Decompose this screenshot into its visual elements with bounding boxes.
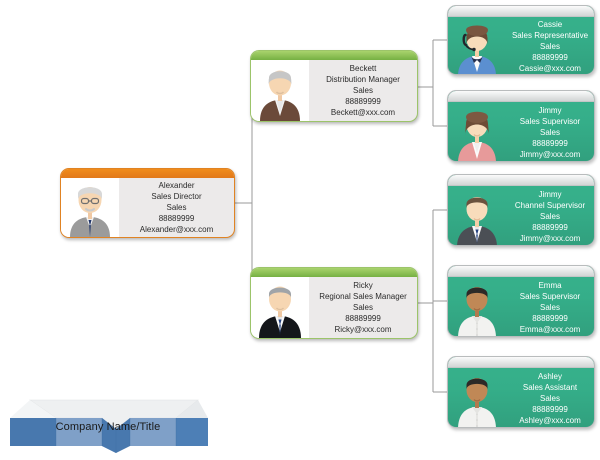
node-email: Ricky@xxx.com bbox=[334, 324, 391, 335]
node-name: Emma bbox=[538, 280, 561, 291]
node-email: Ashley@xxx.com bbox=[519, 415, 580, 426]
node-header-bar bbox=[448, 91, 594, 102]
node-body: Ricky Regional Sales Manager Sales 88889… bbox=[251, 277, 417, 338]
banner-label: Company Name/Title bbox=[8, 396, 208, 458]
node-header-bar bbox=[251, 268, 417, 277]
avatar-alexander bbox=[61, 178, 119, 237]
node-email: Alexander@xxx.com bbox=[140, 224, 213, 235]
node-header-bar bbox=[61, 169, 234, 178]
node-body: Ashley Sales Assistant Sales 88889999 As… bbox=[448, 368, 594, 428]
node-name: Jimmy bbox=[538, 105, 561, 116]
node-name: Ricky bbox=[353, 280, 373, 291]
node-department: Sales bbox=[353, 302, 373, 313]
node-title: Distribution Manager bbox=[326, 74, 400, 85]
node-phone: 88889999 bbox=[532, 404, 568, 415]
node-phone: 88889999 bbox=[159, 213, 195, 224]
node-phone: 88889999 bbox=[532, 222, 568, 233]
avatar-cassie bbox=[448, 17, 506, 75]
node-title: Regional Sales Manager bbox=[319, 291, 407, 302]
node-email: Jimmy@xxx.com bbox=[520, 149, 581, 160]
org-node-ashley[interactable]: Ashley Sales Assistant Sales 88889999 As… bbox=[447, 356, 595, 428]
node-email: Beckett@xxx.com bbox=[331, 107, 395, 118]
node-body: Jimmy Channel Supervisor Sales 88889999 … bbox=[448, 186, 594, 246]
node-department: Sales bbox=[540, 127, 560, 138]
avatar-ashley bbox=[448, 368, 506, 428]
node-info: Jimmy Sales Supervisor Sales 88889999 Ji… bbox=[506, 102, 594, 162]
node-header-bar bbox=[448, 175, 594, 186]
node-header-bar bbox=[448, 266, 594, 277]
node-email: Cassie@xxx.com bbox=[519, 63, 581, 74]
node-info: Cassie Sales Representative Sales 888899… bbox=[506, 17, 594, 75]
node-body: Emma Sales Supervisor Sales 88889999 Emm… bbox=[448, 277, 594, 337]
org-node-alexander[interactable]: Alexander Sales Director Sales 88889999 … bbox=[60, 168, 235, 238]
node-info: Alexander Sales Director Sales 88889999 … bbox=[119, 178, 234, 237]
node-body: Alexander Sales Director Sales 88889999 … bbox=[61, 178, 234, 237]
node-info: Emma Sales Supervisor Sales 88889999 Emm… bbox=[506, 277, 594, 337]
node-name: Alexander bbox=[158, 180, 194, 191]
node-phone: 88889999 bbox=[345, 313, 381, 324]
node-body: Cassie Sales Representative Sales 888899… bbox=[448, 17, 594, 75]
node-header-bar bbox=[448, 357, 594, 368]
org-node-cassie[interactable]: Cassie Sales Representative Sales 888899… bbox=[447, 5, 595, 75]
node-department: Sales bbox=[540, 393, 560, 404]
node-name: Cassie bbox=[538, 19, 562, 30]
org-node-jimmy-channel-supervisor[interactable]: Jimmy Channel Supervisor Sales 88889999 … bbox=[447, 174, 595, 246]
org-chart-canvas: Alexander Sales Director Sales 88889999 … bbox=[0, 0, 600, 460]
org-node-emma[interactable]: Emma Sales Supervisor Sales 88889999 Emm… bbox=[447, 265, 595, 337]
node-body: Jimmy Sales Supervisor Sales 88889999 Ji… bbox=[448, 102, 594, 162]
node-info: Ricky Regional Sales Manager Sales 88889… bbox=[309, 277, 417, 338]
org-node-jimmy-sales-supervisor[interactable]: Jimmy Sales Supervisor Sales 88889999 Ji… bbox=[447, 90, 595, 162]
node-body: Beckett Distribution Manager Sales 88889… bbox=[251, 60, 417, 121]
node-phone: 88889999 bbox=[345, 96, 381, 107]
node-header-bar bbox=[448, 6, 594, 17]
node-info: Jimmy Channel Supervisor Sales 88889999 … bbox=[506, 186, 594, 246]
node-name: Beckett bbox=[350, 63, 377, 74]
node-email: Emma@xxx.com bbox=[520, 324, 581, 335]
company-name-banner[interactable]: Company Name/Title bbox=[8, 396, 208, 458]
node-title: Sales Representative bbox=[512, 30, 588, 41]
node-title: Sales Director bbox=[151, 191, 201, 202]
avatar-jimmy-sales-supervisor bbox=[448, 102, 506, 162]
node-info: Ashley Sales Assistant Sales 88889999 As… bbox=[506, 368, 594, 428]
avatar-emma bbox=[448, 277, 506, 337]
node-department: Sales bbox=[166, 202, 186, 213]
node-title: Sales Supervisor bbox=[520, 116, 580, 127]
node-phone: 88889999 bbox=[532, 138, 568, 149]
node-department: Sales bbox=[540, 302, 560, 313]
avatar-ricky bbox=[251, 277, 309, 338]
node-department: Sales bbox=[540, 41, 560, 52]
org-node-beckett[interactable]: Beckett Distribution Manager Sales 88889… bbox=[250, 50, 418, 122]
avatar-jimmy-channel-supervisor bbox=[448, 186, 506, 246]
node-name: Ashley bbox=[538, 371, 562, 382]
node-phone: 88889999 bbox=[532, 313, 568, 324]
node-name: Jimmy bbox=[538, 189, 561, 200]
node-title: Sales Assistant bbox=[523, 382, 577, 393]
node-phone: 88889999 bbox=[532, 52, 568, 63]
node-title: Channel Supervisor bbox=[515, 200, 585, 211]
node-title: Sales Supervisor bbox=[520, 291, 580, 302]
node-header-bar bbox=[251, 51, 417, 60]
node-department: Sales bbox=[353, 85, 373, 96]
node-email: Jimmy@xxx.com bbox=[520, 233, 581, 244]
node-info: Beckett Distribution Manager Sales 88889… bbox=[309, 60, 417, 121]
node-department: Sales bbox=[540, 211, 560, 222]
avatar-beckett bbox=[251, 60, 309, 121]
org-node-ricky[interactable]: Ricky Regional Sales Manager Sales 88889… bbox=[250, 267, 418, 339]
